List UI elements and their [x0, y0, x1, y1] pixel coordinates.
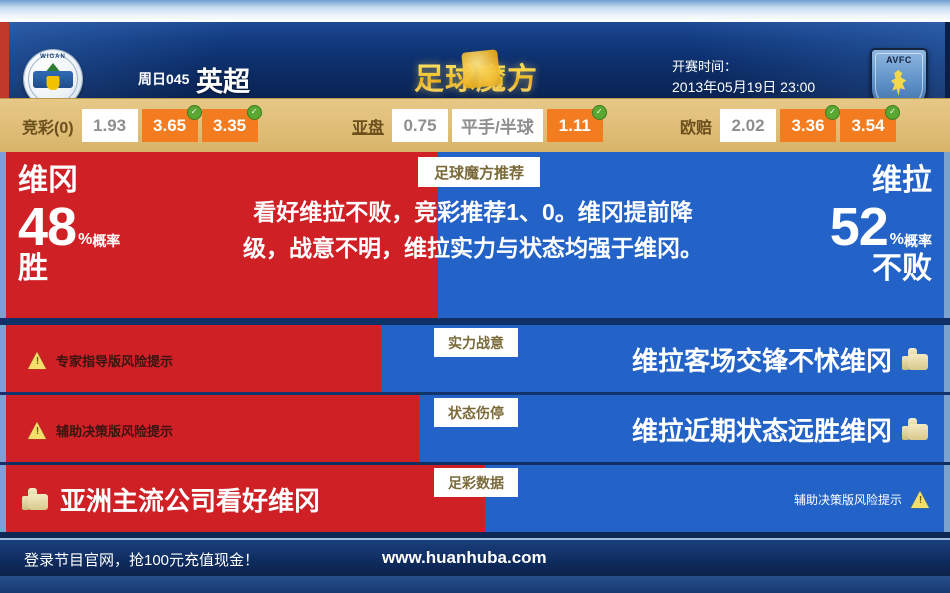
bottom-fill [0, 576, 950, 593]
league-name: 英超 [196, 60, 250, 98]
header-left-accent-bar [0, 22, 9, 98]
thumbs-up-icon [22, 488, 48, 512]
kickoff-label: 开赛时间： [672, 57, 815, 77]
warning-triangle-icon [911, 491, 930, 508]
odds-group-oupei: 欧赔 2.02 3.36✓ 3.54✓ [680, 99, 900, 152]
check-icon: ✓ [592, 105, 607, 120]
odds-value: 平手/半球 [461, 113, 534, 138]
odds-cell[interactable]: 2.02 [720, 109, 776, 142]
odds-value: 0.75 [403, 116, 436, 136]
footer-website[interactable]: www.huanhuba.com [382, 548, 547, 568]
home-probability-block: 维冈 48 % 概率 胜 [18, 164, 120, 286]
probability-label: 概率 [92, 234, 120, 254]
risk-warning: 专家指导版风险提示 [28, 351, 173, 370]
odds-cell[interactable]: 3.36✓ [780, 109, 836, 142]
row-right-edge [944, 465, 950, 532]
row-left-edge [0, 325, 6, 392]
odds-cell[interactable]: 3.54✓ [840, 109, 896, 142]
odds-value: 1.93 [93, 116, 126, 136]
percent-sign: % [890, 232, 904, 254]
odds-bar: 竞彩(0) 1.93 3.65✓ 3.35✓ 亚盘 0.75 平手/半球 1.1… [0, 98, 950, 152]
home-team-name: 维冈 [18, 164, 120, 198]
home-probability-value: 48 [18, 200, 76, 254]
probability-label: 概率 [904, 234, 932, 254]
recommendation-panel: 维冈 48 % 概率 胜 维拉 52 % 概率 不败 足球魔方推荐 看好维拉不败… [0, 152, 950, 318]
away-team-name: 维拉 [830, 164, 932, 198]
away-probability-value: 52 [830, 200, 888, 254]
recommendation-text: 看好维拉不败，竞彩推荐1、0。维冈提前降级，战意不明，维拉实力与状态均强于维冈。 [243, 194, 703, 266]
panel-right-edge [944, 152, 950, 318]
odds-group-label: 欧赔 [680, 114, 712, 138]
row-tab-label: 状态伤停 [434, 398, 518, 427]
risk-warning-text: 专家指导版风险提示 [56, 351, 173, 370]
odds-value: 3.36 [791, 116, 824, 136]
panel-left-edge [0, 152, 6, 318]
warning-triangle-icon [28, 422, 47, 439]
odds-cell[interactable]: 3.65✓ [142, 109, 198, 142]
home-outcome-label: 胜 [18, 252, 120, 286]
odds-value: 1.11 [559, 116, 591, 136]
odds-cell[interactable]: 平手/半球 [452, 109, 543, 142]
row-right-edge [944, 395, 950, 462]
wigan-athletic-crest-icon: WIGAN ATHLETIC [24, 50, 82, 98]
match-number: 周日045 [138, 69, 189, 89]
brand-logo-text: 足球魔方 [414, 63, 538, 96]
away-outcome-label: 不败 [830, 252, 932, 286]
odds-value: 3.35 [213, 116, 246, 136]
footer-promo-text: 登录节目官网，抢100元充值现金！ [24, 549, 259, 570]
info-row-form: 辅助决策版风险提示 状态伤停 维拉近期状态远胜维冈 [0, 395, 950, 462]
row-tab-label: 实力战意 [434, 328, 518, 357]
row-left-edge [0, 395, 6, 462]
thumbs-up-icon [902, 348, 928, 372]
brand-logo: 足球魔方 [414, 54, 538, 98]
info-row-strength: 专家指导版风险提示 实力战意 维拉客场交锋不怵维冈 [0, 325, 950, 392]
odds-cell[interactable]: 1.11✓ [547, 109, 603, 142]
odds-group-label: 竞彩(0) [22, 114, 74, 138]
odds-cell[interactable]: 0.75 [392, 109, 448, 142]
recommendation-tab-label: 足球魔方推荐 [418, 157, 540, 187]
row-message: 维拉近期状态远胜维冈 [632, 411, 928, 448]
odds-cell[interactable]: 3.35✓ [202, 109, 258, 142]
check-icon: ✓ [247, 105, 262, 120]
percent-sign: % [78, 232, 92, 254]
odds-group-jingcai: 竞彩(0) 1.93 3.65✓ 3.35✓ [22, 99, 262, 152]
odds-group-label: 亚盘 [352, 114, 384, 138]
footer-bar: 登录节目官网，抢100元充值现金！ www.huanhuba.com [0, 538, 950, 578]
check-icon: ✓ [187, 105, 202, 120]
row-tab-label: 足彩数据 [434, 468, 518, 497]
check-icon: ✓ [825, 105, 840, 120]
odds-value: 2.02 [731, 116, 764, 136]
row-message: 维拉客场交锋不怵维冈 [632, 341, 928, 378]
row-message-text: 维拉客场交锋不怵维冈 [632, 341, 892, 378]
odds-value: 3.65 [153, 116, 186, 136]
check-icon: ✓ [885, 105, 900, 120]
warning-triangle-icon [28, 352, 47, 369]
odds-value: 3.54 [851, 116, 884, 136]
crest-top-text: WIGAN [24, 54, 82, 60]
risk-warning: 辅助决策版风险提示 [794, 491, 930, 508]
top-gradient-strip [0, 0, 950, 22]
odds-group-yapan: 亚盘 0.75 平手/半球 1.11✓ [352, 99, 607, 152]
risk-warning: 辅助决策版风险提示 [28, 421, 173, 440]
risk-warning-text: 辅助决策版风险提示 [794, 491, 902, 508]
row-right-edge [944, 325, 950, 392]
row-message-text: 维拉近期状态远胜维冈 [632, 411, 892, 448]
info-row-data: 亚洲主流公司看好维冈 足彩数据 辅助决策版风险提示 [0, 465, 950, 532]
broadcast-graphic: WIGAN ATHLETIC 周日045 英超 足球魔方 开赛时间： 2013年… [0, 0, 950, 593]
crest-text: AVFC [872, 55, 926, 65]
aston-villa-crest-icon: AVFC PREPARED [870, 48, 928, 98]
row-message: 亚洲主流公司看好维冈 [22, 481, 320, 518]
away-probability-block: 维拉 52 % 概率 不败 [830, 164, 932, 286]
risk-warning-text: 辅助决策版风险提示 [56, 421, 173, 440]
kickoff-info: 开赛时间： 2013年05月19日 23:00 [672, 57, 815, 97]
odds-cell[interactable]: 1.93 [82, 109, 138, 142]
header-right-accent-bar [945, 22, 950, 98]
match-header: WIGAN ATHLETIC 周日045 英超 足球魔方 开赛时间： 2013年… [0, 22, 950, 98]
row-message-text: 亚洲主流公司看好维冈 [60, 481, 320, 518]
row-left-edge [0, 465, 6, 532]
kickoff-time: 2013年05月19日 23:00 [672, 77, 815, 97]
thumbs-up-icon [902, 418, 928, 442]
